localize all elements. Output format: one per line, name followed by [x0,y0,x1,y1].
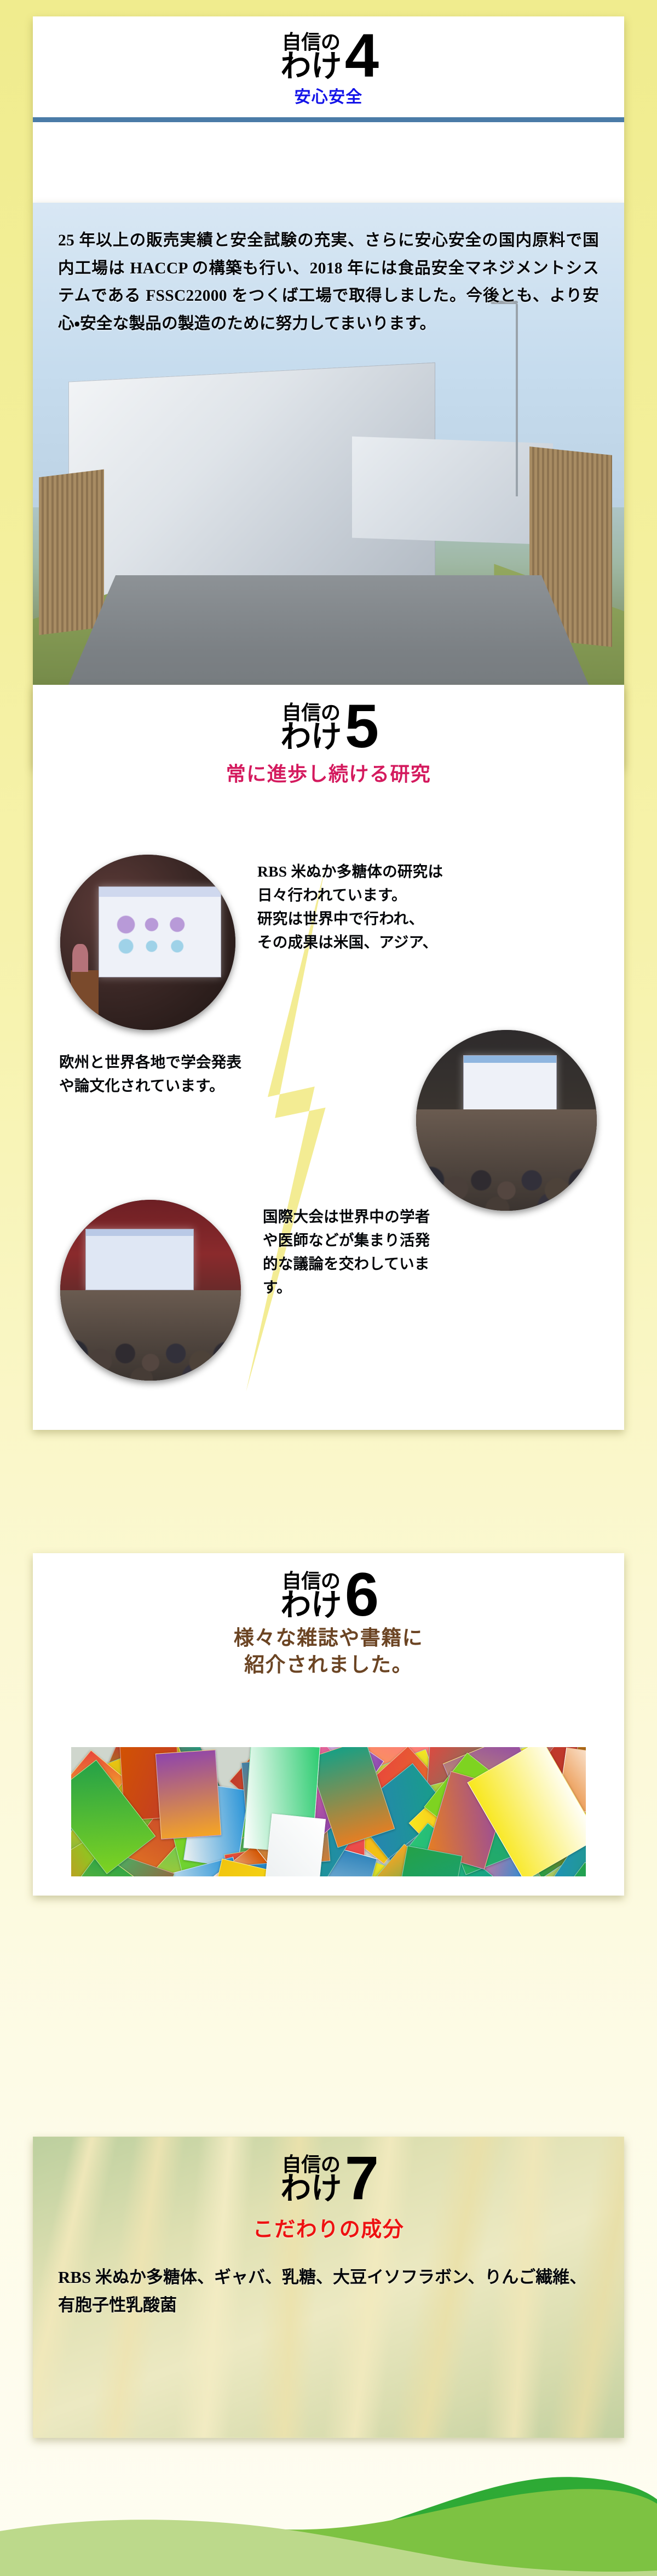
slide-title-bar [464,1056,557,1063]
reason-lockup-6: 自信の わけ 6 [33,1570,624,1620]
card-4-photo-factory: 25 年以上の販売実績と安全試験の充実、さらに安心安全の国内原料で国内工場は H… [33,203,624,767]
reason-lockup-7: 自信の わけ 7 [33,2153,624,2203]
card-5-header: 自信の わけ 5 常に進歩し続ける研究 [33,685,624,790]
card-6-subtitle: 様々な雑誌や書籍に 紹介されました。 [33,1625,624,1679]
card-reason-6: 自信の わけ 6 様々な雑誌や書籍に 紹介されました。 [33,1553,624,1896]
reason-prefix-bottom: わけ [280,1590,341,1620]
reason-words: 自信の わけ [280,703,341,752]
card-7-header: 自信の わけ 7 こだわりの成分 [33,2137,624,2245]
reason-number: 5 [345,701,377,752]
card-5-text-block-2: 欧州と世界各地で学会発表 や論文化されています。 [59,1051,388,1098]
card-7-ingredient-list: RBS 米ぬか多糖体、ギャバ、乳糖、大豆イソフラボン、りんご繊維、有胞子性乳酸菌 [33,2263,624,2320]
card-4-header: 自信の わけ 4 安心安全 [33,16,624,130]
card-5-text-block-3: 国際大会は世界中の学者 や医師などが集まり活発 的な議論を交わしていま す。 [263,1205,591,1300]
wave-svg [0,2461,657,2576]
reason-number: 4 [345,31,377,81]
seated-crowd [60,1290,241,1381]
reason-prefix-bottom: わけ [280,722,341,752]
reason-prefix-bottom: わけ [280,2174,341,2203]
seated-crowd [416,1109,597,1211]
card-5-subtitle: 常に進歩し続ける研究 [33,758,624,787]
projection-screen [85,1229,194,1290]
reason-words: 自信の わけ [280,1572,341,1620]
magazine-collage [71,1747,586,1876]
reason-prefix-bottom: わけ [280,51,341,81]
reason-words: 自信の わけ [280,33,341,81]
card-reason-4: 自信の わけ 4 安心安全 [33,16,624,203]
card-6-header: 自信の わけ 6 様々な雑誌や書籍に 紹介されました。 [33,1553,624,1681]
reason-lockup-5: 自信の わけ 5 [33,701,624,752]
card-reason-5: 自信の わけ 5 常に進歩し続ける研究 RBS 米ぬか多糖体の研究は 日々 [33,685,624,1430]
card-4-subtitle: 安心安全 [33,83,624,107]
projection-screen [99,886,221,977]
photo-circle-lecture-slide [60,855,235,1030]
photo-circle-congress [60,1200,241,1381]
card-reason-7: 自信の わけ 7 こだわりの成分 RBS 米ぬか多糖体、ギャバ、乳糖、大豆イソフ… [33,2137,624,2438]
footer-wave-decoration [0,2461,657,2576]
photo-circle-audience [416,1030,597,1211]
speaker-figure [72,944,88,972]
podium [71,970,99,1016]
card-7-subtitle: こだわりの成分 [33,2212,624,2242]
card-6-photo-magazines [71,1747,586,1876]
card-4-body-text: 25 年以上の販売実績と安全試験の充実、さらに安心安全の国内原料で国内工場は H… [33,203,624,767]
slide-title-bar [99,887,221,897]
slide-title-bar [86,1229,193,1236]
card-4-divider [33,117,624,122]
magazine-cover [264,1813,325,1876]
reason-lockup-4: 自信の わけ 4 [33,31,624,81]
card-5-text-block-1: RBS 米ぬか多糖体の研究は 日々行われています。 研究は世界中で行われ、 その… [257,860,597,954]
reason-number: 6 [345,1570,377,1620]
slide-diagram [107,903,214,957]
reason-number: 7 [345,2153,377,2203]
magazine-cover [155,1749,221,1839]
reason-words: 自信の わけ [280,2155,341,2203]
